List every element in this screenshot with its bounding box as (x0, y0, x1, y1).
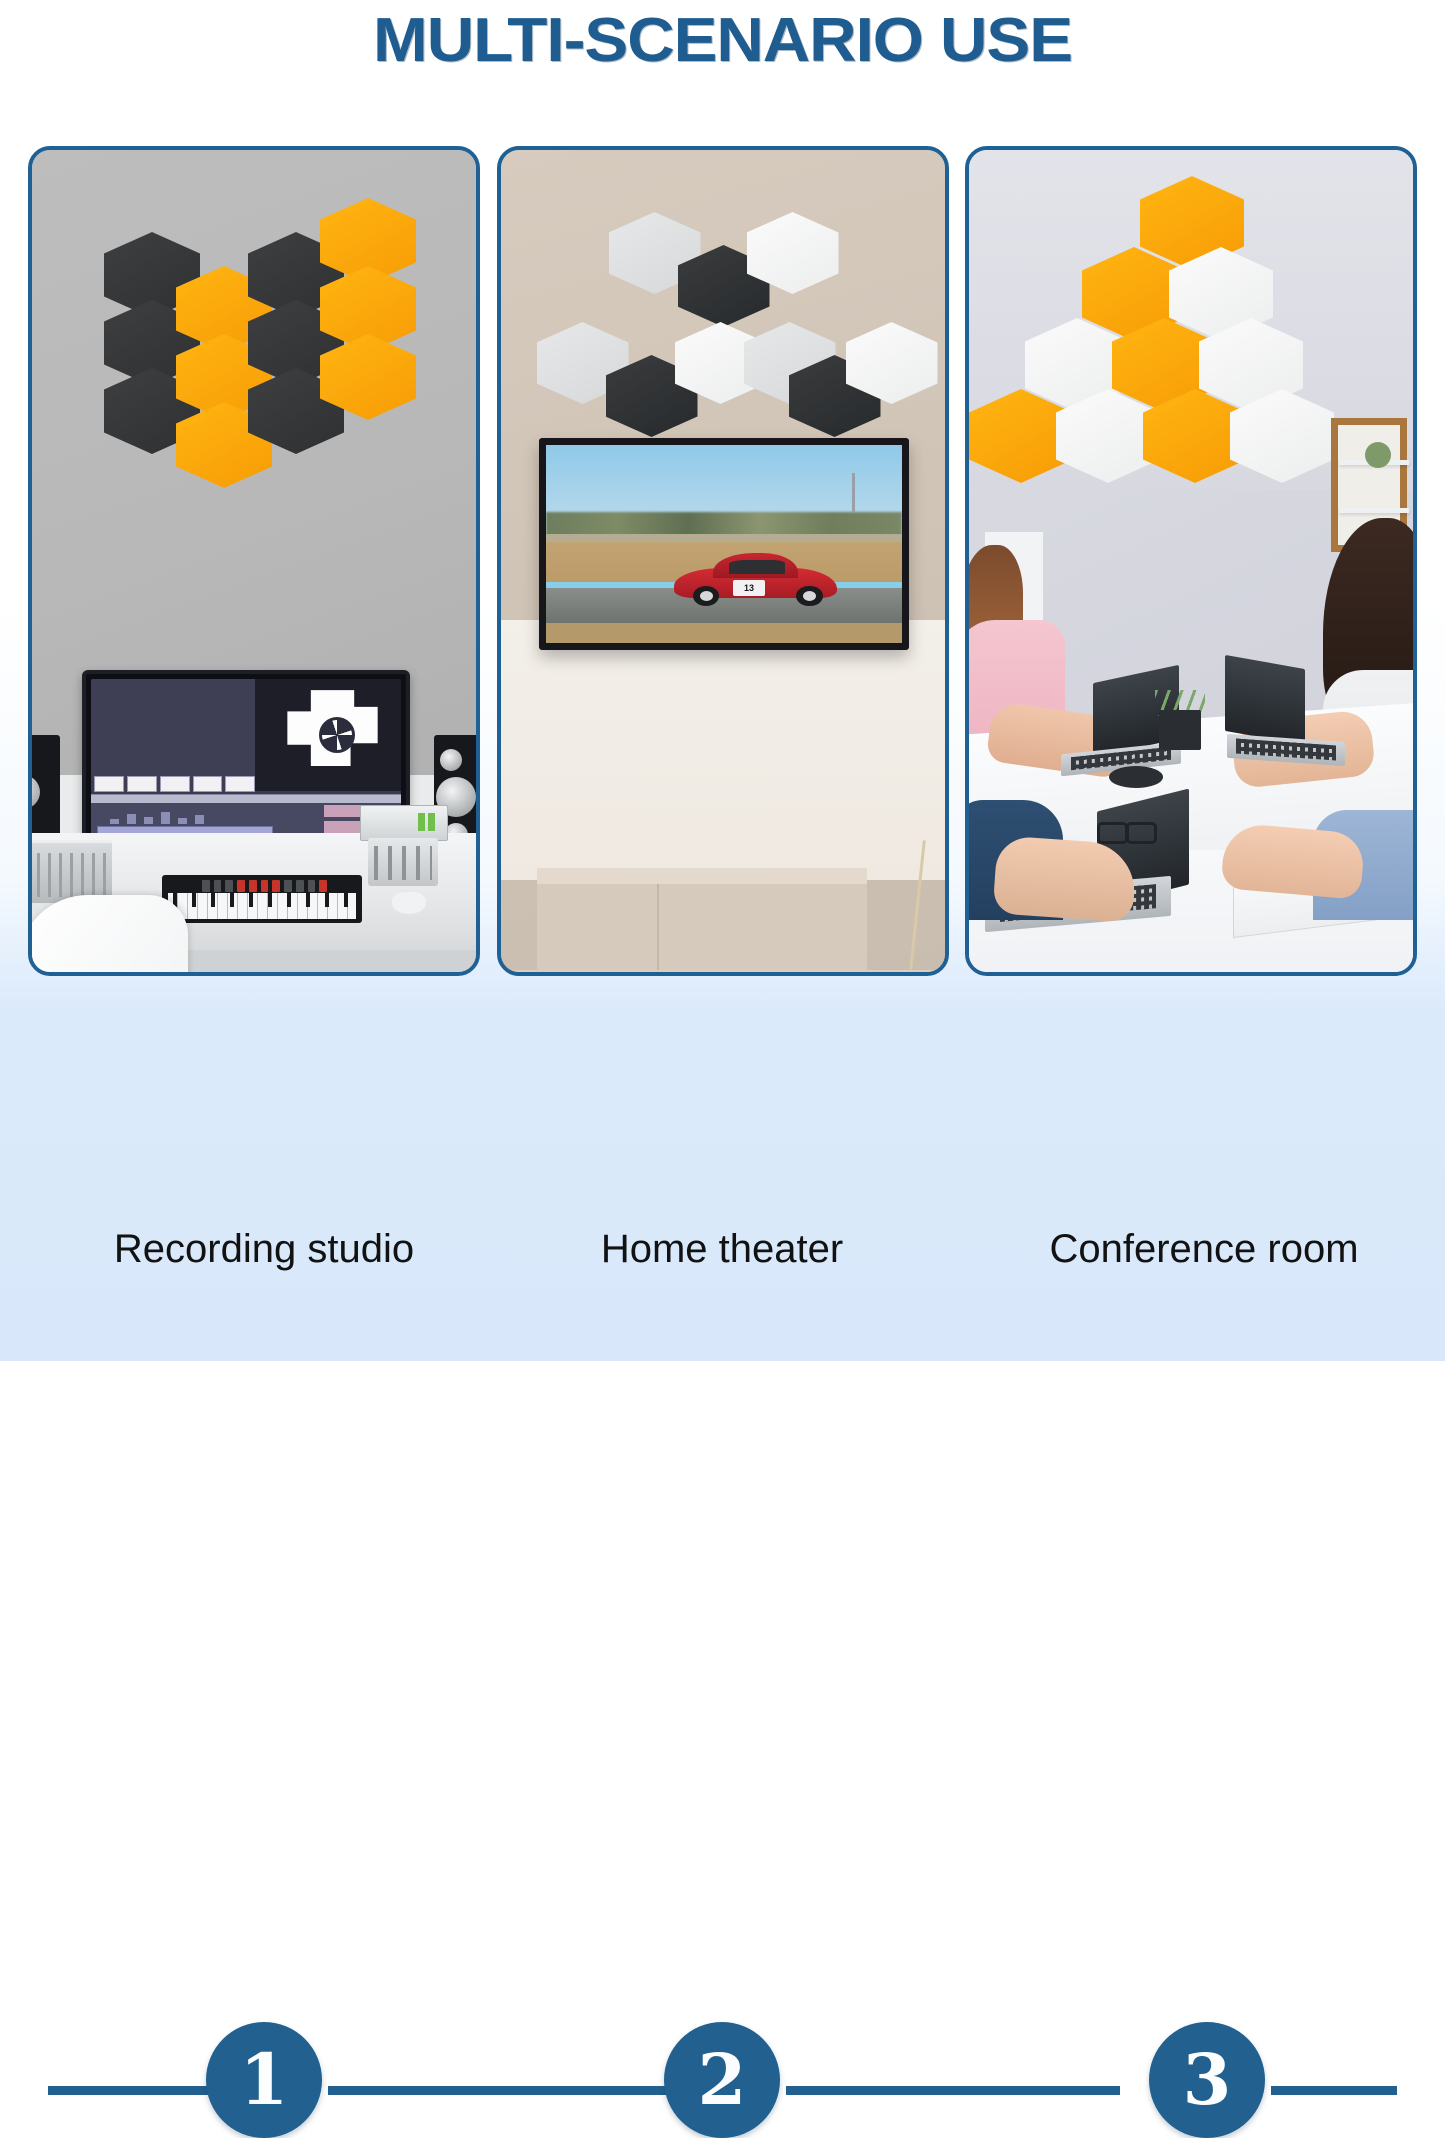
conference-pen-cup (1159, 710, 1201, 750)
studio-cabinet (367, 975, 480, 976)
conference-eyeglasses (1097, 822, 1157, 840)
car-rear-wheel (796, 586, 822, 606)
person-front-right-arm (1220, 822, 1365, 900)
studio-mixer-right (368, 838, 438, 886)
tv-race-car: 13 (674, 554, 838, 607)
editor-left-pane (91, 679, 256, 791)
midi-pads (202, 880, 327, 892)
monitor-screen (91, 679, 401, 859)
editor-preview-pane (255, 679, 401, 791)
editor-thumbnails (94, 776, 255, 792)
step-badge-3[interactable]: 3 (1149, 2022, 1265, 2138)
laptop-upper-right (1221, 680, 1341, 760)
step-connector-line (48, 2086, 212, 2095)
laptop-screen (1225, 655, 1305, 745)
theater-lower-wall (501, 620, 945, 880)
midi-black-keys (168, 893, 356, 907)
conference-plant (1365, 442, 1391, 468)
wall-mounted-tv: 13 (539, 438, 909, 650)
theater-floor-edge (501, 970, 945, 976)
steps-strip: 1 2 3 (0, 1010, 1445, 1160)
panel-home-theater[interactable]: 13 (497, 146, 949, 976)
step-badge-2[interactable]: 2 (664, 2022, 780, 2138)
panel-recording-studio[interactable] (28, 146, 480, 976)
tv-foreground-grass (546, 623, 902, 643)
tv-tower (852, 473, 855, 513)
caption-recording-studio: Recording studio (54, 1222, 474, 1276)
midi-keyboard (162, 875, 362, 923)
caption-conference-room: Conference room (994, 1222, 1414, 1276)
infographic-root: MULTI-SCENARIO USE (0, 0, 1445, 1361)
step-connector-line (786, 2086, 1120, 2095)
car-front-wheel (693, 586, 719, 606)
page-title: MULTI-SCENARIO USE (0, 0, 1445, 80)
car-window (729, 560, 785, 574)
step-connector-line (1271, 2086, 1397, 2095)
step-connector-line (328, 2086, 666, 2095)
caption-home-theater: Home theater (512, 1222, 932, 1276)
studio-rack-unit (360, 805, 448, 841)
studio-mixer-left (28, 840, 112, 903)
studio-brick-wall (192, 972, 372, 976)
studio-mouse (392, 892, 426, 914)
theater-media-cabinet (537, 868, 867, 973)
conference-desk-accessory (1109, 766, 1163, 788)
timeline-bars (110, 811, 240, 824)
car-number: 13 (733, 580, 766, 596)
tv-screen: 13 (546, 445, 902, 643)
studio-chair (28, 895, 188, 976)
tv-fence (546, 534, 902, 542)
step-badge-1[interactable]: 1 (206, 2022, 322, 2138)
panel-conference-room[interactable] (965, 146, 1417, 976)
scenario-panels: 13 (28, 146, 1417, 968)
